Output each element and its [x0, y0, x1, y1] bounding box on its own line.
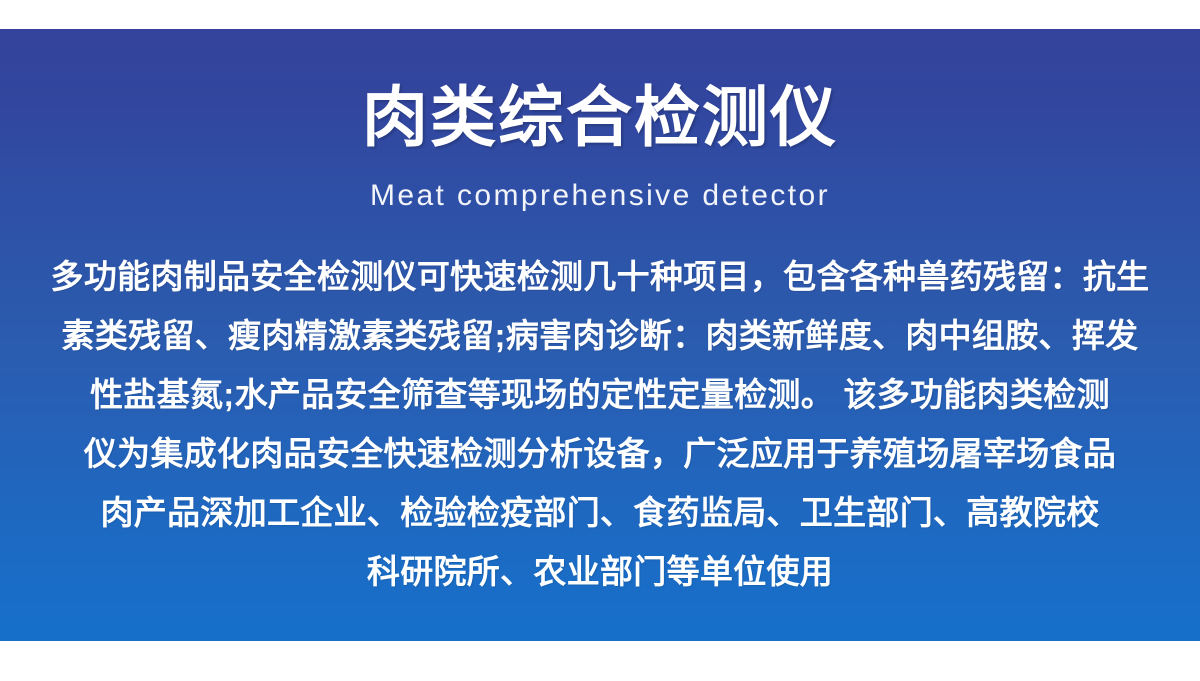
product-description: 多功能肉制品安全检测仪可快速检测几十种项目，包含各种兽药残留：抗生 素类残留、瘦… — [0, 247, 1200, 601]
description-line: 肉产品深加工企业、检验检疫部门、食药监局、卫生部门、高教院校 — [0, 483, 1200, 542]
product-banner: 肉类综合检测仪 Meat comprehensive detector 多功能肉… — [0, 0, 1200, 681]
top-white-strip — [0, 0, 1200, 29]
banner-content: 肉类综合检测仪 Meat comprehensive detector 多功能肉… — [0, 29, 1200, 641]
page-subtitle: Meat comprehensive detector — [0, 176, 1200, 216]
description-line: 多功能肉制品安全检测仪可快速检测几十种项目，包含各种兽药残留：抗生 — [0, 247, 1200, 306]
description-line: 仪为集成化肉品安全快速检测分析设备，广泛应用于养殖场屠宰场食品 — [0, 424, 1200, 483]
description-line: 性盐基氮;水产品安全筛查等现场的定性定量检测。 该多功能肉类检测 — [0, 365, 1200, 424]
bottom-white-strip — [0, 641, 1200, 681]
description-line: 素类残留、瘦肉精激素类残留;病害肉诊断：肉类新鲜度、肉中组胺、挥发 — [0, 306, 1200, 365]
page-title: 肉类综合检测仪 — [0, 77, 1200, 157]
description-line: 科研院所、农业部门等单位使用 — [0, 542, 1200, 601]
